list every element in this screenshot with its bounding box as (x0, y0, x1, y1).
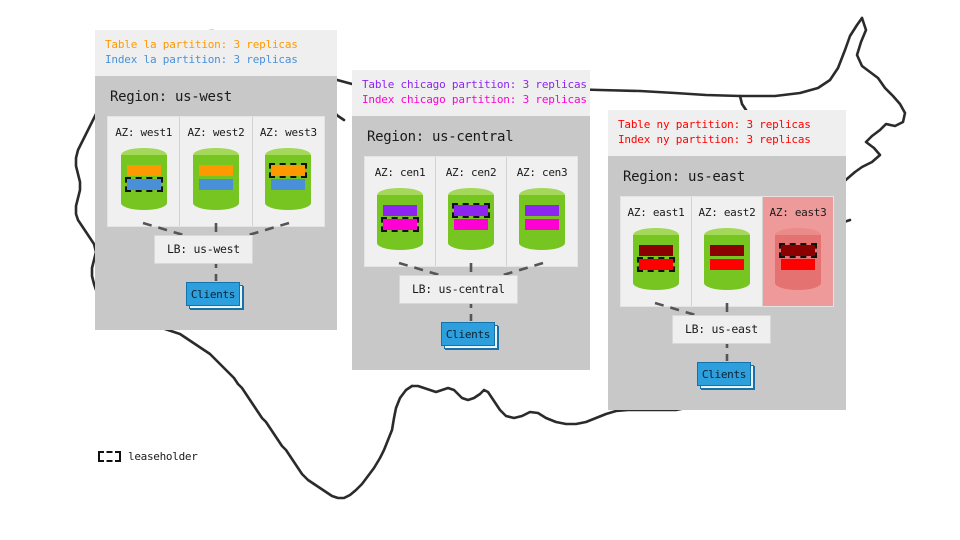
az-cell-cen2[interactable]: AZ: cen2 (436, 157, 507, 266)
table-replica-bar (710, 245, 744, 256)
table-replica-bar (639, 245, 673, 256)
node-cylinder-east3-unavailable[interactable] (775, 228, 821, 290)
node-cylinder-cen2[interactable] (448, 188, 494, 250)
clients-stack-us-east[interactable]: Clients (697, 362, 755, 388)
az-cell-west2[interactable]: AZ: west2 (180, 117, 252, 226)
partition-header-us-west: Table la partition: 3 replicas Index la … (95, 30, 337, 76)
index-replica-bar (710, 259, 744, 270)
partition-index-line: Index la partition: 3 replicas (105, 53, 327, 68)
az-cell-east3-failed[interactable]: AZ: east3 (763, 197, 833, 306)
partition-index-line: Index chicago partition: 3 replicas (362, 93, 580, 108)
az-label-west2: AZ: west2 (188, 126, 245, 139)
table-replica-bar (127, 165, 161, 176)
leaseholder-legend: leaseholder (98, 450, 198, 463)
node-cylinder-cen1[interactable] (377, 188, 423, 250)
az-label-cen1: AZ: cen1 (375, 166, 426, 179)
index-replica-bar-leaseholder (639, 259, 673, 270)
load-balancer-us-east[interactable]: LB: us-east (672, 315, 771, 344)
clients-label: Clients (441, 322, 495, 346)
az-cell-west3[interactable]: AZ: west3 (253, 117, 324, 226)
az-label-east2: AZ: east2 (699, 206, 756, 219)
az-strip-us-central: AZ: cen1 AZ: cen2 (364, 156, 578, 267)
index-replica-bar (525, 219, 559, 230)
clients-stack-us-west[interactable]: Clients (186, 282, 244, 308)
partition-header-us-east: Table ny partition: 3 replicas Index ny … (608, 110, 846, 156)
table-replica-bar (525, 205, 559, 216)
az-label-west1: AZ: west1 (115, 126, 172, 139)
region-panel-us-east: Table ny partition: 3 replicas Index ny … (608, 110, 846, 410)
partition-header-us-central: Table chicago partition: 3 replicas Inde… (352, 70, 590, 116)
az-cell-west1[interactable]: AZ: west1 (108, 117, 180, 226)
leaseholder-dashed-swatch-icon (98, 451, 121, 462)
clients-label: Clients (186, 282, 240, 306)
table-replica-bar-leaseholder (781, 245, 815, 256)
region-title-us-west: Region: us-west (95, 76, 337, 116)
az-cell-cen1[interactable]: AZ: cen1 (365, 157, 436, 266)
az-label-east3: AZ: east3 (770, 206, 827, 219)
load-balancer-us-central[interactable]: LB: us-central (399, 275, 518, 304)
az-strip-us-west: AZ: west1 AZ: west2 (107, 116, 325, 227)
table-replica-bar-leaseholder (271, 165, 305, 176)
region-title-us-central: Region: us-central (352, 116, 590, 156)
index-replica-bar-leaseholder (127, 179, 161, 190)
az-cell-cen3[interactable]: AZ: cen3 (507, 157, 577, 266)
az-cell-east2[interactable]: AZ: east2 (692, 197, 763, 306)
partition-table-line: Table chicago partition: 3 replicas (362, 78, 580, 93)
node-cylinder-west2[interactable] (193, 148, 239, 210)
load-balancer-us-west[interactable]: LB: us-west (154, 235, 253, 264)
table-replica-bar-leaseholder (454, 205, 488, 216)
node-cylinder-west3[interactable] (265, 148, 311, 210)
index-replica-bar (199, 179, 233, 190)
partition-index-line: Index ny partition: 3 replicas (618, 133, 836, 148)
region-title-us-east: Region: us-east (608, 156, 846, 196)
node-cylinder-west1[interactable] (121, 148, 167, 210)
index-replica-bar (271, 179, 305, 190)
az-label-cen3: AZ: cen3 (517, 166, 568, 179)
az-label-west3: AZ: west3 (260, 126, 317, 139)
az-cell-east1[interactable]: AZ: east1 (621, 197, 692, 306)
node-cylinder-east2[interactable] (704, 228, 750, 290)
index-replica-bar (781, 259, 815, 270)
partition-table-line: Table la partition: 3 replicas (105, 38, 327, 53)
index-replica-bar-leaseholder (383, 219, 417, 230)
region-panel-us-central: Table chicago partition: 3 replicas Inde… (352, 70, 590, 370)
az-label-east1: AZ: east1 (628, 206, 685, 219)
az-strip-us-east: AZ: east1 AZ: east2 (620, 196, 834, 307)
diagram-canvas: Table la partition: 3 replicas Index la … (0, 0, 960, 540)
table-replica-bar (383, 205, 417, 216)
clients-stack-us-central[interactable]: Clients (441, 322, 499, 348)
node-cylinder-east1[interactable] (633, 228, 679, 290)
az-label-cen2: AZ: cen2 (446, 166, 497, 179)
region-panel-us-west: Table la partition: 3 replicas Index la … (95, 30, 337, 330)
index-replica-bar (454, 219, 488, 230)
partition-table-line: Table ny partition: 3 replicas (618, 118, 836, 133)
table-replica-bar (199, 165, 233, 176)
clients-label: Clients (697, 362, 751, 386)
node-cylinder-cen3[interactable] (519, 188, 565, 250)
leaseholder-legend-label: leaseholder (128, 450, 198, 463)
